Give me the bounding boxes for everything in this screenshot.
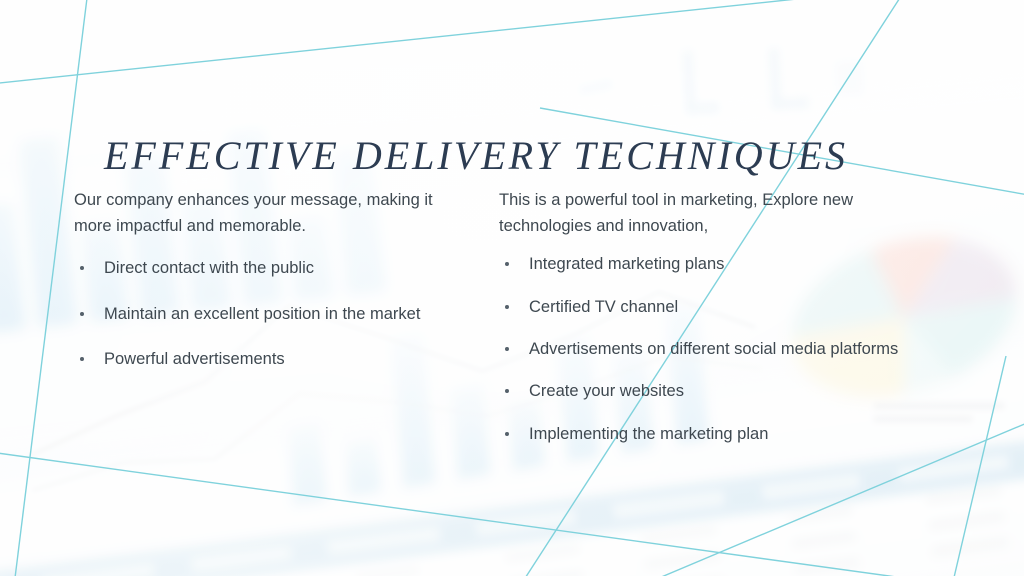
page-title: EFFECTIVE DELIVERY TECHNIQUES [104, 132, 848, 179]
left-intro-paragraph: Our company enhances your message, makin… [74, 188, 464, 239]
bullet-dot-icon [505, 305, 509, 309]
content-column-left: Our company enhances your message, makin… [74, 188, 464, 393]
content-column-right: This is a powerful tool in marketing, Ex… [499, 188, 939, 465]
slide-content: EFFECTIVE DELIVERY TECHNIQUES Our compan… [0, 0, 1024, 576]
list-item: Advertisements on different social media… [499, 338, 939, 361]
bullet-dot-icon [80, 266, 84, 270]
list-item: Integrated marketing plans [499, 253, 939, 276]
list-item-label: Implementing the marketing plan [529, 425, 768, 443]
right-bullet-list: Integrated marketing plans Certified TV … [499, 253, 939, 446]
list-item-label: Advertisements on different social media… [529, 340, 898, 358]
bullet-dot-icon [505, 432, 509, 436]
list-item-label: Certified TV channel [529, 298, 678, 316]
presentation-slide: EFFECTIVE DELIVERY TECHNIQUES Our compan… [0, 0, 1024, 576]
left-bullet-list: Direct contact with the public Maintain … [74, 257, 464, 371]
right-intro-paragraph: This is a powerful tool in marketing, Ex… [499, 188, 939, 239]
list-item-label: Direct contact with the public [104, 259, 314, 277]
list-item-label: Maintain an excellent position in the ma… [104, 305, 420, 323]
bullet-dot-icon [80, 312, 84, 316]
bullet-dot-icon [505, 262, 509, 266]
list-item-label: Integrated marketing plans [529, 255, 724, 273]
list-item: Create your websites [499, 380, 939, 403]
list-item: Certified TV channel [499, 296, 939, 319]
bullet-dot-icon [80, 357, 84, 361]
list-item: Maintain an excellent position in the ma… [74, 303, 464, 326]
list-item-label: Powerful advertisements [104, 350, 285, 368]
bullet-dot-icon [505, 347, 509, 351]
list-item: Direct contact with the public [74, 257, 464, 280]
bullet-dot-icon [505, 389, 509, 393]
list-item: Powerful advertisements [74, 348, 464, 371]
list-item: Implementing the marketing plan [499, 423, 939, 446]
list-item-label: Create your websites [529, 382, 684, 400]
